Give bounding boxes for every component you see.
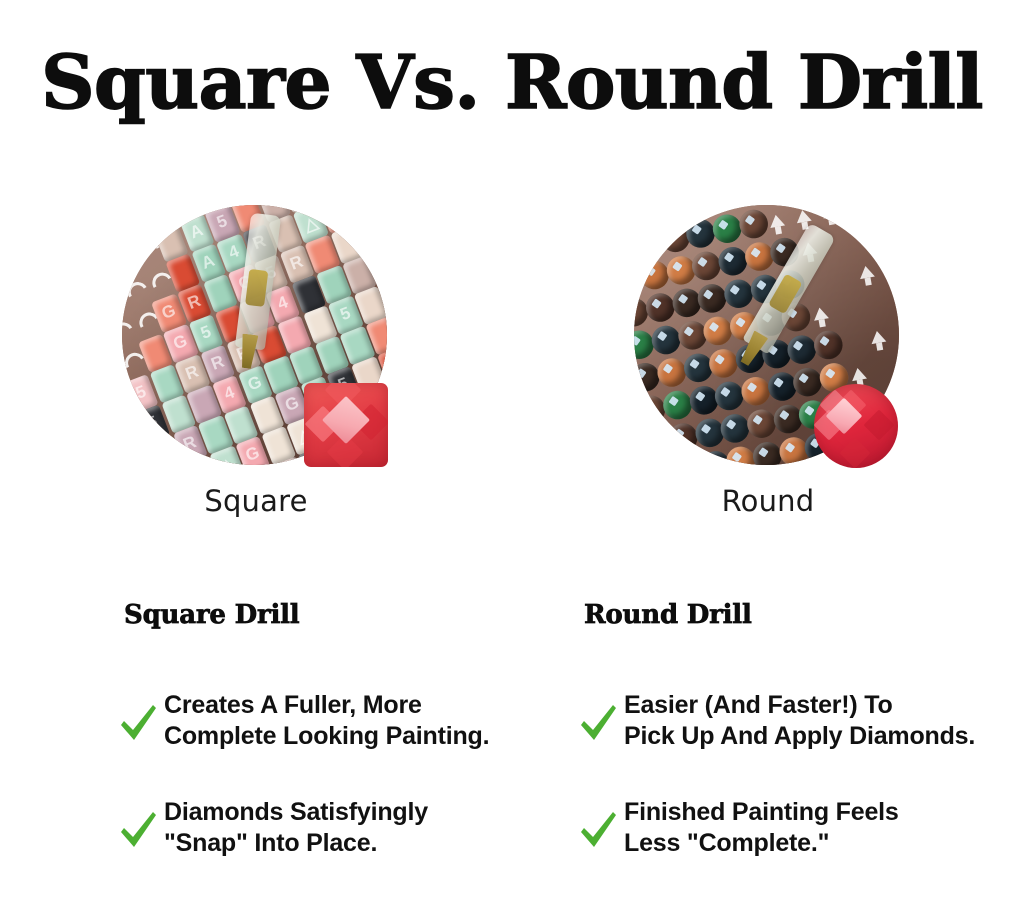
- list-item-text: Diamonds Satisfyingly "Snap" Into Place.: [164, 797, 428, 858]
- bullet-list-round: Easier (And Faster!) To Pick Up And Appl…: [578, 690, 1024, 858]
- list-item: Easier (And Faster!) To Pick Up And Appl…: [578, 690, 1024, 751]
- green-check-icon: [578, 809, 618, 851]
- page-title: Square Vs. Round Drill: [0, 46, 1024, 120]
- gem-facet: [839, 437, 870, 468]
- list-item-text: Easier (And Faster!) To Pick Up And Appl…: [624, 690, 975, 751]
- list-item-text: Finished Painting Feels Less "Complete.": [624, 797, 899, 858]
- photo-caption-square: Square: [0, 484, 512, 518]
- column-heading-square: Square Drill: [124, 600, 578, 630]
- column-round-drill: Round Drill Easier (And Faster!) To Pick…: [578, 600, 1024, 904]
- list-item-text: Creates A Fuller, More Complete Looking …: [164, 690, 489, 751]
- photo-cell-round: FFEEFF: [512, 200, 1024, 480]
- comparison-columns: Square Drill Creates A Fuller, More Comp…: [0, 600, 1024, 900]
- round-gem-icon: [814, 384, 898, 468]
- green-check-icon: [578, 702, 618, 744]
- square-photo-wrap: AA44RR△4A5△A4R△GAGRG5RAG54A5RRR5A△54GR54…: [122, 205, 390, 470]
- list-item: Creates A Fuller, More Complete Looking …: [118, 690, 578, 751]
- gem-facet: [863, 409, 894, 440]
- column-heading-round: Round Drill: [584, 600, 1024, 630]
- photo-caption-round: Round: [512, 484, 1024, 518]
- green-check-icon: [118, 809, 158, 851]
- column-square-drill: Square Drill Creates A Fuller, More Comp…: [118, 600, 578, 904]
- bullet-list-square: Creates A Fuller, More Complete Looking …: [118, 690, 578, 858]
- photo-cell-square: AA44RR△4A5△A4R△GAGRG5RAG54A5RRR5A△54GR54…: [0, 200, 512, 480]
- pen-wax: [245, 269, 268, 307]
- photo-comparison-row: AA44RR△4A5△A4R△GAGRG5RAG54A5RRR5A△54GR54…: [0, 200, 1024, 480]
- square-gem-icon: [304, 383, 388, 467]
- gem-center-facet: [322, 396, 370, 444]
- list-item: Finished Painting Feels Less "Complete.": [578, 797, 1024, 858]
- round-photo-wrap: FFEEFF: [634, 205, 902, 470]
- list-item: Diamonds Satisfyingly "Snap" Into Place.: [118, 797, 578, 858]
- green-check-icon: [118, 702, 158, 744]
- infographic-root: Square Vs. Round Drill AA44RR△4A5△A4R△GA…: [0, 0, 1024, 923]
